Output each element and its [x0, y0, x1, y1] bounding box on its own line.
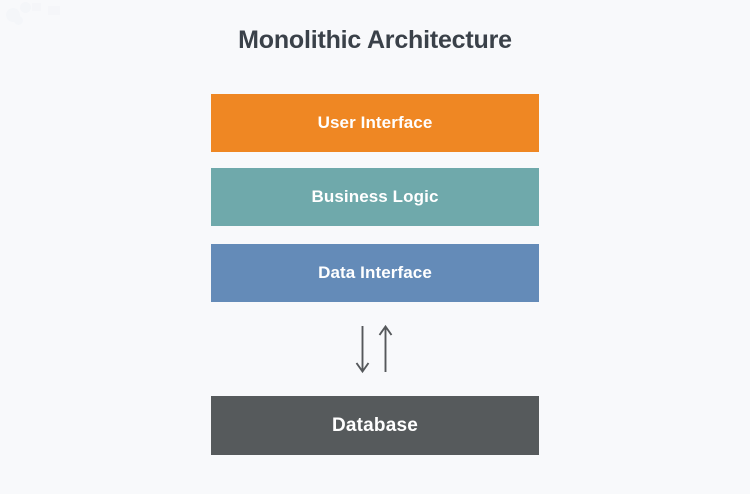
layer-label: Business Logic [311, 187, 438, 207]
layer-label: User Interface [318, 113, 433, 133]
datastore-label: Database [332, 415, 418, 437]
layer-box-user-interface[interactable]: User Interface [211, 94, 539, 152]
bidirectional-connector [345, 320, 405, 380]
layer-label: Data Interface [318, 263, 432, 283]
page-title: Monolithic Architecture [211, 26, 539, 55]
layer-box-data-interface[interactable]: Data Interface [211, 244, 539, 302]
watermark [6, 2, 68, 24]
layer-box-business-logic[interactable]: Business Logic [211, 168, 539, 226]
datastore-box-database[interactable]: Database [211, 396, 539, 455]
diagram-canvas: Monolithic Architecture User Interface B… [0, 0, 750, 494]
